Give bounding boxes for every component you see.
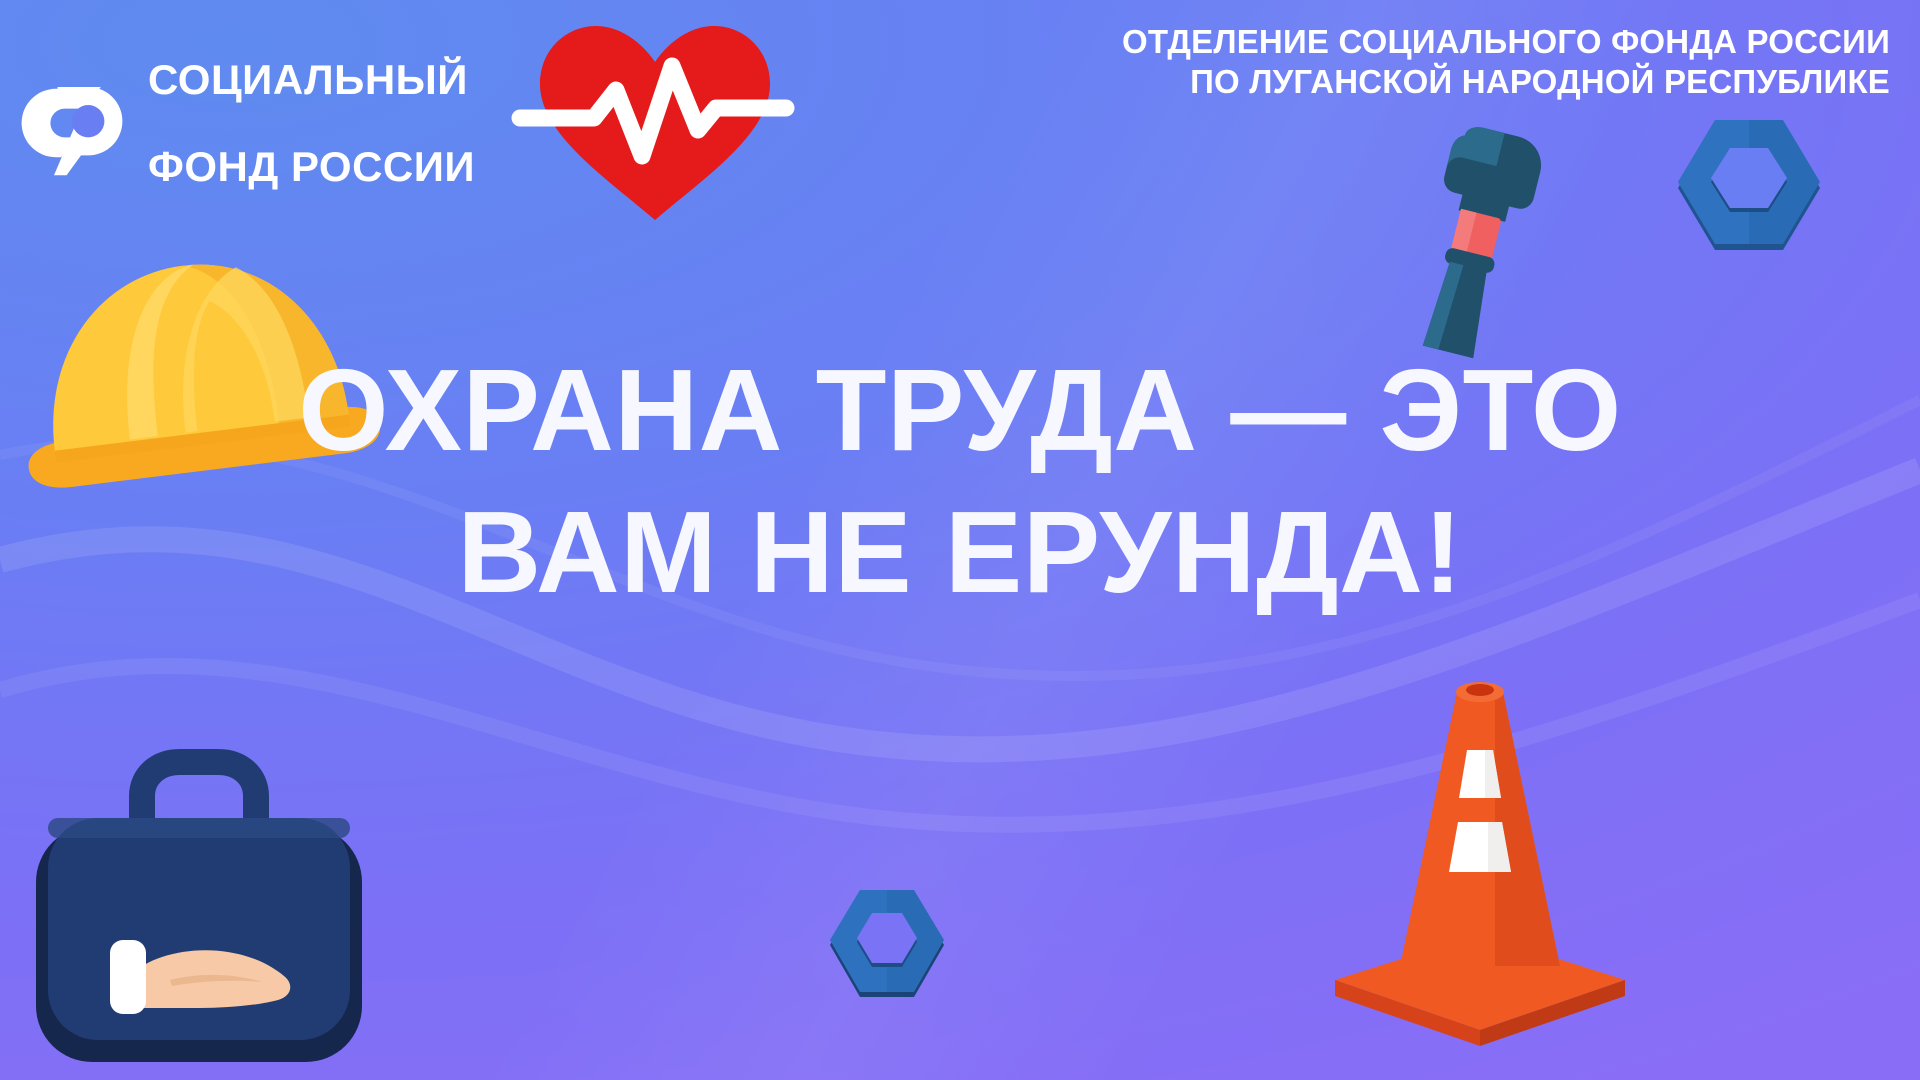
sfr-logo-text: СОЦИАЛЬНЫЙ ФОНД РОССИИ [148,14,475,232]
sfr-logo: СОЦИАЛЬНЫЙ ФОНД РОССИИ [18,14,475,232]
heart-pulse-icon [520,8,790,223]
hammer-icon [1395,128,1545,358]
hex-nut-icon-top [1668,118,1830,258]
organization-line-1: ОТДЕЛЕНИЕ СОЦИАЛЬНОГО ФОНДА РОССИИ [905,22,1890,62]
main-title: ОХРАНА ТРУДА — ЭТО ВАМ НЕ ЕРУНДА! [0,352,1920,610]
logo-line-1: СОЦИАЛЬНЫЙ [148,58,475,102]
hex-nut-icon-center [822,885,952,1005]
traffic-cone-icon [1325,650,1635,1050]
banner-canvas: СОЦИАЛЬНЫЙ ФОНД РОССИИ ОТДЕЛЕНИЕ СОЦИАЛЬ… [0,0,1920,1080]
title-line-2: ВАМ НЕ ЕРУНДА! [0,494,1920,610]
sfr-logo-mark [18,69,126,177]
briefcase-hand-icon [22,718,372,1078]
organization-line-2: ПО ЛУГАНСКОЙ НАРОДНОЙ РЕСПУБЛИКЕ [905,62,1890,102]
organization-name: ОТДЕЛЕНИЕ СОЦИАЛЬНОГО ФОНДА РОССИИ ПО ЛУ… [905,22,1890,101]
logo-line-2: ФОНД РОССИИ [148,145,475,189]
title-line-1: ОХРАНА ТРУДА — ЭТО [0,352,1920,468]
